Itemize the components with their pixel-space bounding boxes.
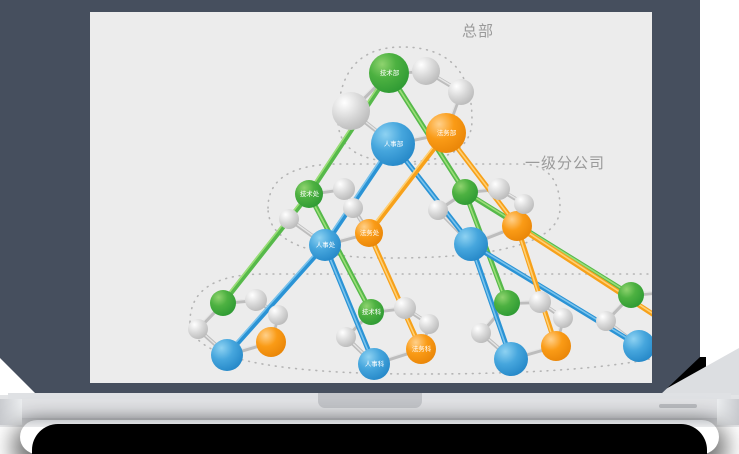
- laptop-shadow-blur: [20, 420, 719, 454]
- tier-labels-layer: 总部一级分公司二级分公司: [90, 12, 652, 383]
- tier-label-headquarters: 总部: [462, 20, 494, 41]
- laptop-edge-left: [0, 399, 22, 425]
- tier-label-level1-branch: 一级分公司: [525, 152, 605, 173]
- laptop-hinge-notch: [318, 393, 422, 408]
- laptop-edge-right: [717, 399, 739, 425]
- laptop-mockup: 技术部人事部法务部技术处人事处法务处技术科人事科法务科 总部一级分公司二级分公司: [0, 0, 739, 452]
- laptop-port: [659, 404, 697, 408]
- laptop-screen: 技术部人事部法务部技术处人事处法务处技术科人事科法务科 总部一级分公司二级分公司: [90, 12, 652, 383]
